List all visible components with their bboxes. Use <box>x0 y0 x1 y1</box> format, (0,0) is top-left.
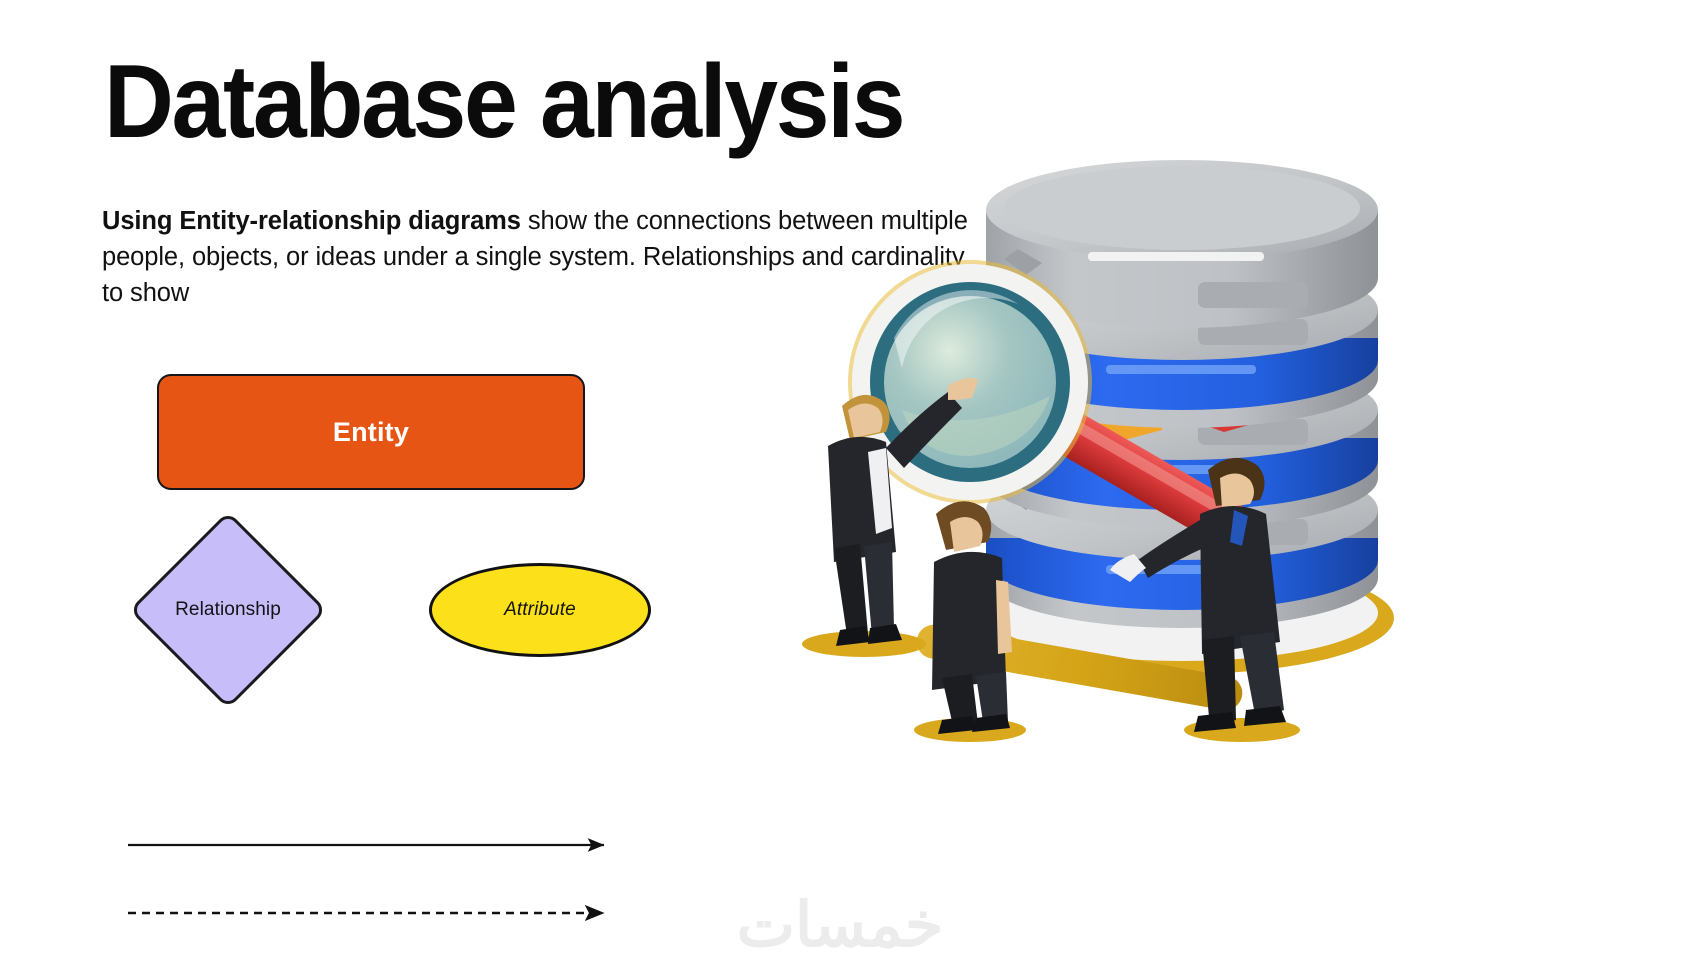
relationship-shape[interactable]: Relationship <box>129 511 327 709</box>
watermark-text: خمسات <box>690 888 990 961</box>
page-title: Database analysis <box>104 48 903 157</box>
relationship-label: Relationship <box>129 511 327 709</box>
body-lead-text: Using Entity-relationship diagrams <box>102 207 521 235</box>
entity-shape[interactable]: Entity <box>157 374 585 490</box>
attribute-label: Attribute <box>504 599 576 621</box>
entity-label: Entity <box>333 417 409 448</box>
connector-arrows <box>120 820 640 940</box>
database-analysis-illustration <box>790 110 1430 770</box>
attribute-shape[interactable]: Attribute <box>429 563 651 657</box>
